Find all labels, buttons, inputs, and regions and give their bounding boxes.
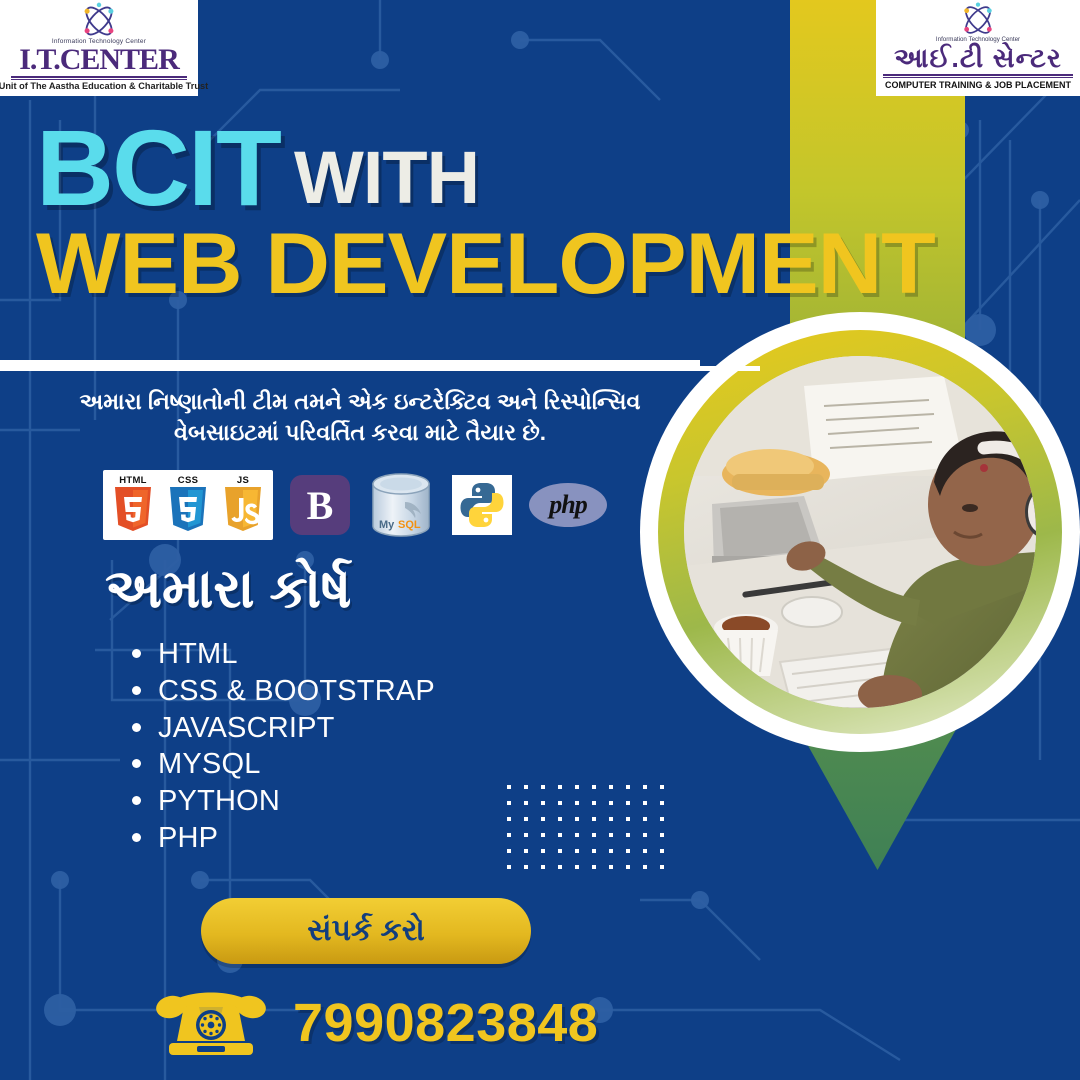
javascript-logo: JS [219,475,267,535]
photo-gradient-ring [658,330,1062,734]
student-photo [684,356,1036,708]
logo-left: Information Technology Center I.T.CENTER… [0,0,198,96]
poster-canvas: Information Technology Center I.T.CENTER… [0,0,1080,1080]
php-label: php [549,490,586,520]
php-logo: php [529,483,607,527]
logo-left-name: I.T.CENTER [19,46,178,75]
headline-with: WITH [294,144,479,217]
atom-icon [78,2,120,40]
svg-text:My: My [379,519,395,531]
photo-circle-frame [640,312,1080,752]
courses-list: HTML CSS & BOOTSTRAP JAVASCRIPT MYSQL PY… [128,636,435,857]
logo-right-rule [883,74,1073,76]
html-css-js-card: HTML CSS JS [103,470,273,540]
list-item: PHP [128,820,435,857]
list-item: PYTHON [128,783,435,820]
bootstrap-logo: B [290,475,350,535]
contact-cta-label: સંપર્ક કરો [307,914,424,948]
logo-left-rule [11,76,187,78]
contact-row: 7990823848 [155,985,598,1061]
contact-cta-button[interactable]: સંપર્ક કરો [201,898,531,964]
css3-logo: CSS [164,475,212,535]
logo-left-rule-thin [11,79,187,80]
tech-logo-row: HTML CSS JS [103,470,607,540]
headline-line-1: BCIT WITH [36,118,786,217]
dot-grid-decoration [505,782,665,872]
list-item: HTML [128,636,435,673]
logo-left-subtitle: A Unit of The Aastha Education & Charita… [0,81,208,91]
svg-text:SQL: SQL [398,519,421,531]
logo-right: Information Technology Center આઈ.ટી સેન્… [876,0,1080,96]
logo-right-name: આઈ.ટી સેન્ટર [894,45,1062,72]
python-logo [452,475,512,535]
html5-logo: HTML [109,475,157,535]
headline-block: BCIT WITH WEB DEVELOPMENT [36,118,786,307]
mysql-logo: My SQL [367,472,435,538]
courses-heading: અમારા કોર્ષ [105,558,351,621]
divider-line-lower [0,366,760,371]
subtitle-text: અમારા નિષ્ણાતોની ટીમ તમને એક ઇન્ટરેક્ટિવ… [30,386,690,448]
telephone-icon [155,985,267,1061]
headline-web-development: WEB DEVELOPMENT [36,221,816,307]
list-item: JAVASCRIPT [128,710,435,747]
phone-number: 7990823848 [293,992,598,1054]
logo-right-tagline: Information Technology Center [936,36,1020,43]
list-item: MYSQL [128,746,435,783]
atom-icon [958,2,998,38]
list-item: CSS & BOOTSTRAP [128,673,435,710]
headline-bcit: BCIT [36,118,280,217]
logo-right-subtitle: COMPUTER TRAINING & JOB PLACEMENT [885,80,1071,90]
logo-right-rule-thin [883,77,1073,78]
